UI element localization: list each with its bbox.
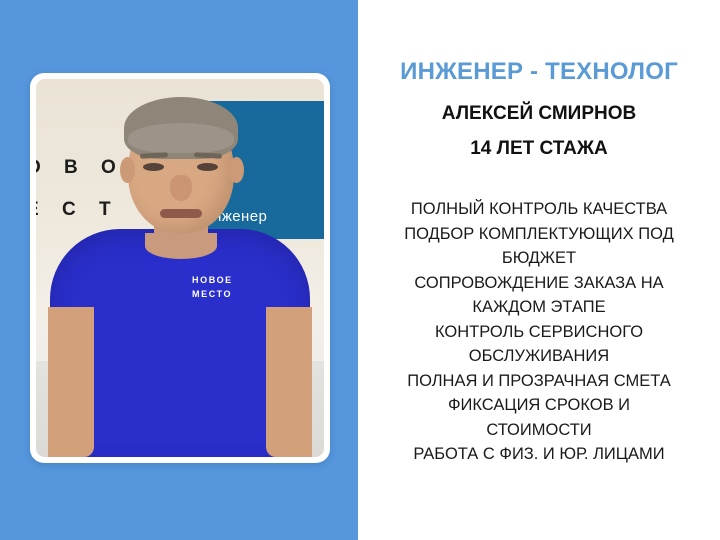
- person-nose: [170, 175, 192, 201]
- person-right-ear: [229, 157, 244, 183]
- experience-line: 14 ЛЕТ СТАЖА: [358, 138, 720, 160]
- avito-watermark: Avito: [620, 503, 706, 528]
- person-mouth: [160, 209, 202, 218]
- service-line: ОБСЛУЖИВАНИЯ: [366, 344, 712, 369]
- backdrop-word-line-1: О В О: [36, 157, 125, 179]
- text-panel: ИНЖЕНЕР - ТЕХНОЛОГ АЛЕКСЕЙ СМИРНОВ 14 ЛЕ…: [358, 0, 720, 540]
- ad-card: О В О Е С Т Инженер НОВОЕ МЕСТО: [0, 0, 720, 540]
- person-right-arm: [266, 307, 312, 457]
- service-line: БЮДЖЕТ: [366, 246, 712, 271]
- service-line: СТОИМОСТИ: [366, 418, 712, 443]
- person-name: АЛЕКСЕЙ СМИРНОВ: [358, 103, 720, 125]
- portrait-photo-frame: О В О Е С Т Инженер НОВОЕ МЕСТО: [30, 73, 330, 463]
- person-shirt: НОВОЕ МЕСТО: [50, 229, 310, 457]
- service-line: ФИКСАЦИЯ СРОКОВ И: [366, 393, 712, 418]
- services-list: ПОЛНЫЙ КОНТРОЛЬ КАЧЕСТВАПОДБОР КОМПЛЕКТУ…: [366, 197, 712, 467]
- service-line: ПОЛНЫЙ КОНТРОЛЬ КАЧЕСТВА: [366, 197, 712, 222]
- service-line: КОНТРОЛЬ СЕРВИСНОГО: [366, 320, 712, 345]
- service-line: СОПРОВОЖДЕНИЕ ЗАКАЗА НА: [366, 271, 712, 296]
- avito-wordmark: Avito: [647, 503, 706, 528]
- backdrop-word-line-2: Е С Т: [36, 199, 120, 221]
- person-left-ear: [120, 157, 135, 183]
- service-line: КАЖДОМ ЭТАПЕ: [366, 295, 712, 320]
- person-hair: [124, 97, 238, 159]
- avito-logo-icon: [620, 505, 642, 527]
- service-line: РАБОТА С ФИЗ. И ЮР. ЛИЦАМИ: [366, 442, 712, 467]
- person-right-eye: [197, 163, 218, 171]
- person-left-eye: [143, 163, 164, 171]
- job-title: ИНЖЕНЕР - ТЕХНОЛОГ: [358, 58, 720, 86]
- service-line: ПОЛНАЯ И ПРОЗРАЧНАЯ СМЕТА: [366, 369, 712, 394]
- shirt-logo-line-2: МЕСТО: [192, 289, 232, 299]
- shirt-logo-line-1: НОВОЕ: [192, 275, 233, 285]
- portrait-photo: О В О Е С Т Инженер НОВОЕ МЕСТО: [36, 79, 324, 457]
- service-line: ПОДБОР КОМПЛЕКТУЮЩИХ ПОД: [366, 222, 712, 247]
- person-left-arm: [48, 307, 94, 457]
- shirt-logo: НОВОЕ МЕСТО: [192, 273, 233, 301]
